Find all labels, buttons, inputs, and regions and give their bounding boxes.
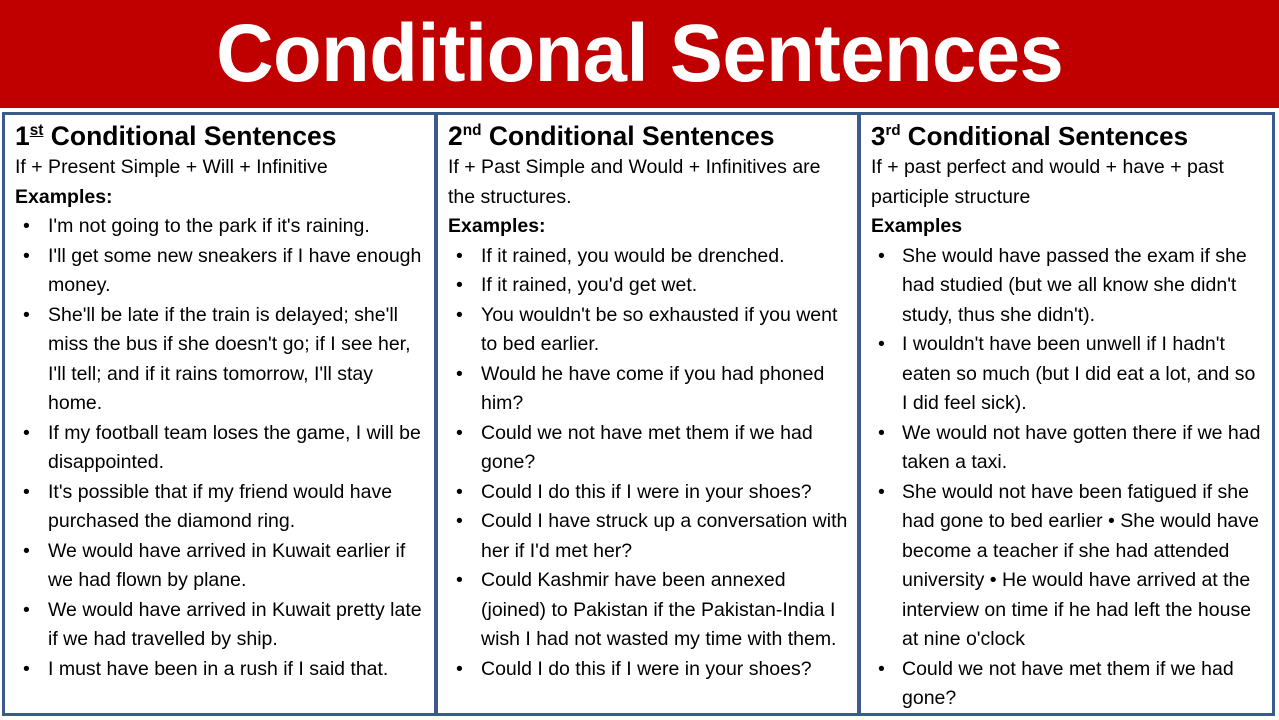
list-item: Could I do this if I were in your shoes? (448, 655, 849, 685)
column-title-third: 3rd Conditional Sentences (871, 121, 1264, 152)
list-item: I'm not going to the park if it's rainin… (15, 212, 426, 242)
list-item: I'll get some new sneakers if I have eno… (15, 242, 426, 301)
examples-list-second: If it rained, you would be drenched. If … (448, 242, 849, 685)
column-title-ordinal-third: rd (885, 122, 900, 139)
list-item: If it rained, you would be drenched. (448, 242, 849, 272)
column-second-conditional: 2nd Conditional Sentences If + Past Simp… (434, 115, 861, 713)
list-item: Could I do this if I were in your shoes? (448, 478, 849, 508)
column-title-rest-second: Conditional Sentences (482, 121, 775, 151)
examples-label-third: Examples (871, 212, 1264, 242)
list-item: You wouldn't be so exhausted if you went… (448, 301, 849, 360)
list-item: If it rained, you'd get wet. (448, 271, 849, 301)
column-title-rest-first: Conditional Sentences (43, 121, 336, 151)
list-item: She'll be late if the train is delayed; … (15, 301, 426, 419)
list-item: Could Kashmir have been annexed (joined)… (448, 566, 849, 655)
column-title-rest-third: Conditional Sentences (901, 121, 1189, 151)
title-banner: Conditional Sentences (0, 0, 1279, 108)
examples-label-second: Examples: (448, 212, 849, 242)
page-title: Conditional Sentences (216, 9, 1063, 99)
examples-label-first: Examples: (15, 183, 426, 213)
structure-formula-second: If + Past Simple and Would + Infinitives… (448, 153, 849, 212)
structure-formula-first: If + Present Simple + Will + Infinitive (15, 153, 426, 183)
examples-list-third: She would have passed the exam if she ha… (871, 242, 1264, 714)
column-third-conditional: 3rd Conditional Sentences If + past perf… (861, 115, 1272, 713)
list-item: Could we not have met them if we had gon… (871, 655, 1264, 714)
list-item: I wouldn't have been unwell if I hadn't … (871, 330, 1264, 419)
columns-container: 1st Conditional Sentences If + Present S… (2, 112, 1275, 716)
column-title-number-third: 3 (871, 121, 885, 151)
column-title-ordinal-first: st (30, 122, 44, 139)
list-item: I must have been in a rush if I said tha… (15, 655, 426, 685)
structure-formula-third: If + past perfect and would + have + pas… (871, 153, 1264, 212)
examples-list-first: I'm not going to the park if it's rainin… (15, 212, 426, 684)
column-title-ordinal-second: nd (463, 122, 482, 139)
column-title-number-first: 1 (15, 121, 30, 151)
list-item: Could I have struck up a conversation wi… (448, 507, 849, 566)
column-title-number-second: 2 (448, 121, 463, 151)
list-item: She would have passed the exam if she ha… (871, 242, 1264, 331)
list-item: We would have arrived in Kuwait earlier … (15, 537, 426, 596)
column-first-conditional: 1st Conditional Sentences If + Present S… (5, 115, 434, 713)
list-item: Would he have come if you had phoned him… (448, 360, 849, 419)
column-title-second: 2nd Conditional Sentences (448, 121, 849, 152)
list-item: We would have arrived in Kuwait pretty l… (15, 596, 426, 655)
conditional-sentences-poster: Conditional Sentences 1st Conditional Se… (0, 0, 1279, 720)
list-item: We would not have gotten there if we had… (871, 419, 1264, 478)
list-item: She would not have been fatigued if she … (871, 478, 1264, 655)
list-item: It's possible that if my friend would ha… (15, 478, 426, 537)
list-item: Could we not have met them if we had gon… (448, 419, 849, 478)
column-title-first: 1st Conditional Sentences (15, 121, 426, 152)
list-item: If my football team loses the game, I wi… (15, 419, 426, 478)
